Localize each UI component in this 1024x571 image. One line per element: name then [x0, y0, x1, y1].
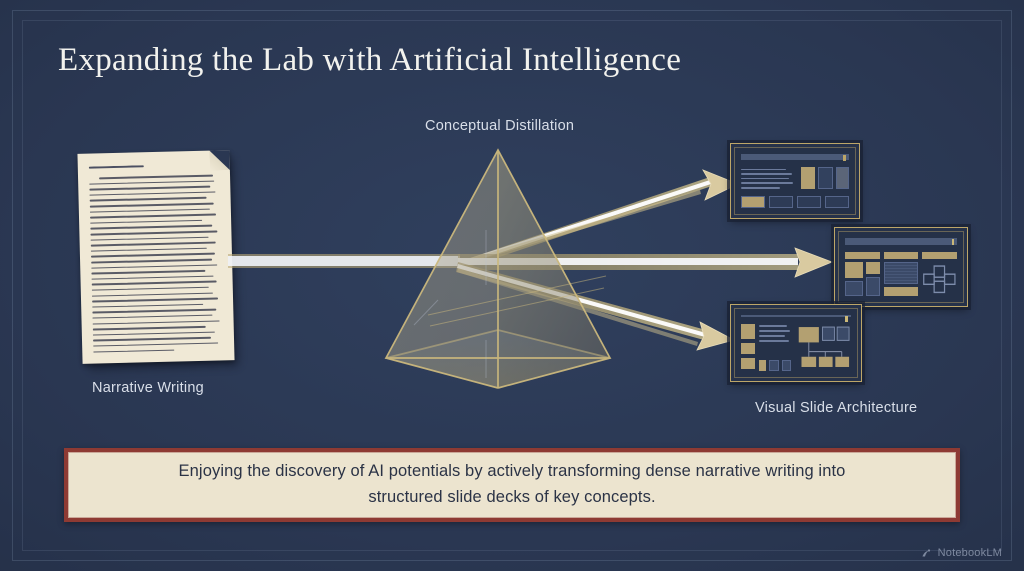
slide-column [884, 252, 919, 296]
caption-text: Enjoying the discovery of AI potentials … [162, 459, 862, 510]
slide-card-top [730, 143, 860, 219]
slide-image-column [801, 167, 849, 189]
slide-thumbnail-row [741, 196, 849, 208]
hierarchy-diagram-icon [796, 324, 851, 371]
slide-column [845, 252, 880, 296]
notebooklm-spark-icon [921, 547, 933, 559]
slide-title-bar [845, 238, 957, 245]
label-visual-slide-architecture: Visual Slide Architecture [755, 400, 917, 416]
slide-title-bar [741, 154, 849, 160]
pyramid-prism-icon [368, 140, 628, 390]
label-conceptual-distillation: Conceptual Distillation [425, 118, 574, 134]
slide-text-column [741, 324, 791, 371]
notebooklm-watermark: NotebookLM [921, 547, 1002, 559]
slide-title-bar [741, 315, 851, 317]
watermark-label: NotebookLM [938, 547, 1002, 559]
cross-diagram-icon [922, 262, 957, 296]
slide-card-middle [834, 227, 968, 307]
presentation-slide: Expanding the Lab with Artificial Intell… [0, 0, 1024, 571]
slide-layout-icon [741, 154, 849, 208]
slide-layout-icon [845, 238, 957, 296]
caption-box: Enjoying the discovery of AI potentials … [64, 448, 960, 522]
slide-text-column [741, 167, 796, 189]
slide-card-bottom [730, 304, 862, 382]
slide-column [922, 252, 957, 296]
slide-diagram-icon [741, 315, 851, 371]
slide-hierarchy-diagram [796, 324, 851, 371]
